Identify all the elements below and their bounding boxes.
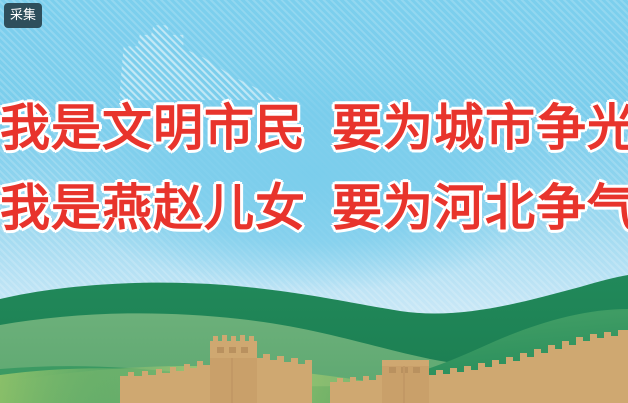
slogan-line-2-left: 我是燕赵儿女 (0, 179, 306, 237)
slogan-line-2-right: 要为河北争气 (332, 179, 628, 237)
slogan-line-1-right: 要为城市争光 (332, 99, 628, 157)
slogan-line-2: 我是燕赵儿女要为河北争气 (0, 168, 628, 248)
slogan-line-1: 我是文明市民要为城市争光 (0, 88, 628, 168)
poster-image: 我是文明市民要为城市争光 我是燕赵儿女要为河北争气 采集 (0, 0, 628, 403)
slogan-line-1-left: 我是文明市民 (0, 99, 306, 157)
rolling-green-hills (0, 263, 628, 403)
slogan-block: 我是文明市民要为城市争光 我是燕赵儿女要为河北争气 (0, 88, 628, 248)
capture-button[interactable]: 采集 (4, 3, 42, 28)
